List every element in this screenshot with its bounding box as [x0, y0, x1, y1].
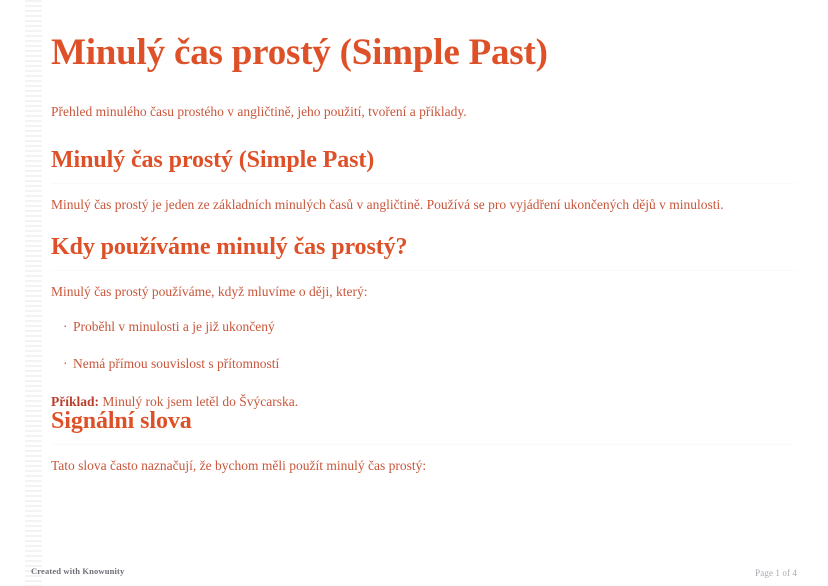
list-item-label: Nemá přímou souvislost s přítomností — [73, 356, 279, 371]
bullet-marker-icon: · — [63, 354, 68, 374]
usage-bullet-list: · Proběhl v minulosti a je již ukončený … — [51, 317, 797, 373]
section-heading-simple-past: Minulý čas prostý (Simple Past) — [51, 147, 796, 184]
list-item-label: Proběhl v minulosti a je již ukončený — [73, 319, 275, 334]
section-signal-words: Signální slova Tato slova často naznačuj… — [51, 408, 797, 475]
page-subtitle: Přehled minulého času prostého v angličt… — [51, 103, 467, 122]
example-text: Minulý rok jsem letěl do Švýcarska. — [99, 394, 298, 409]
footer-credit: Created with Knowunity — [31, 566, 124, 576]
section-heading-when-to-use: Kdy používáme minulý čas prostý? — [51, 234, 796, 271]
section-simple-past: Minulý čas prostý (Simple Past) Minulý č… — [51, 147, 797, 214]
example-label: Příklad: — [51, 394, 99, 409]
left-margin-stripe-decoration — [25, 0, 42, 586]
document-page: Minulý čas prostý (Simple Past) Přehled … — [0, 0, 828, 586]
section-heading-signal-words: Signální slova — [51, 408, 796, 445]
section-text-when-to-use: Minulý čas prostý používáme, když mluvím… — [51, 282, 797, 302]
list-item: · Nemá přímou souvislost s přítomností — [51, 354, 797, 374]
list-item: · Proběhl v minulosti a je již ukončený — [51, 317, 797, 337]
section-text-simple-past: Minulý čas prostý je jeden ze základních… — [51, 195, 797, 215]
page-title: Minulý čas prostý (Simple Past) — [51, 33, 548, 73]
bullet-marker-icon: · — [63, 317, 68, 337]
section-text-signal-words: Tato slova často naznačují, že bychom mě… — [51, 456, 797, 476]
section-when-to-use: Kdy používáme minulý čas prostý? Minulý … — [51, 234, 797, 411]
footer-page-indicator: Page 1 of 4 — [755, 568, 797, 578]
